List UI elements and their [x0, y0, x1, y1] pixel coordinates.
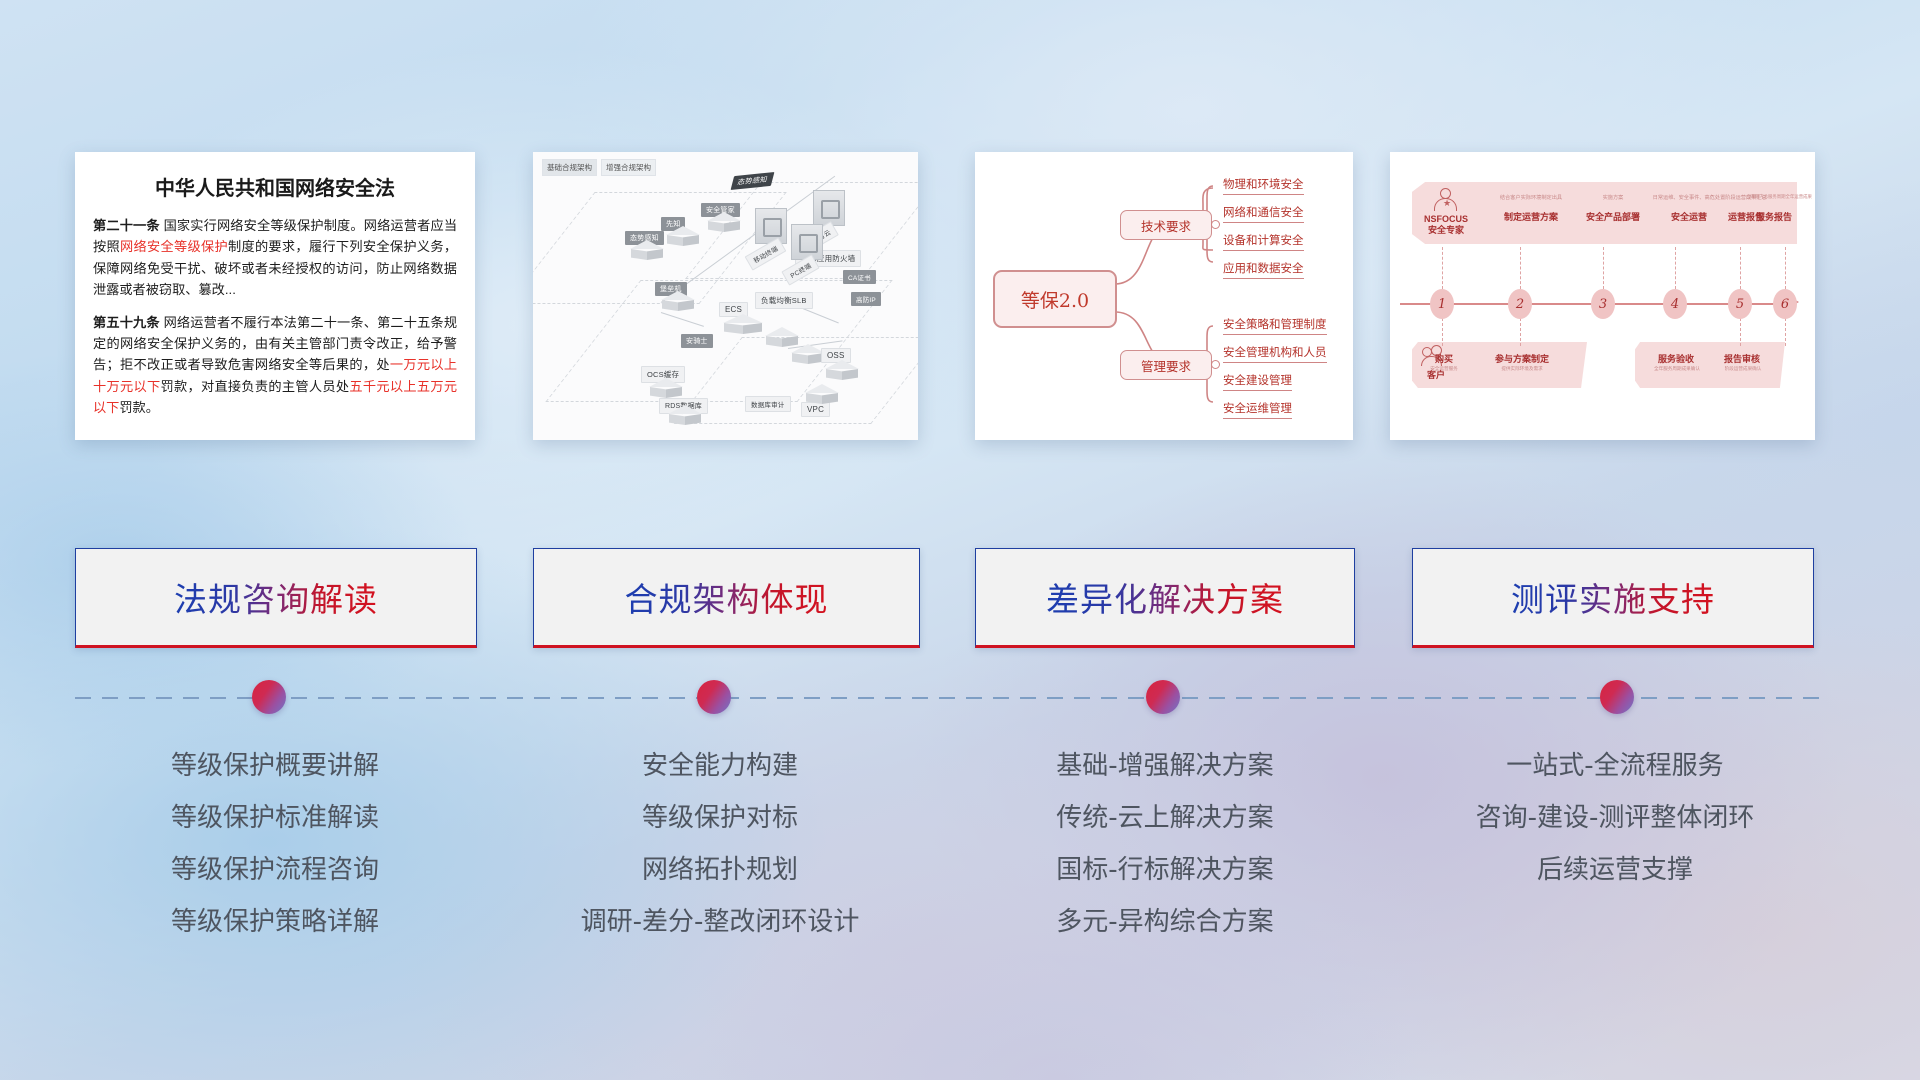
section-title-4: 测评实施支持: [1511, 573, 1715, 621]
brand-name: NSFOCUS 安全专家: [1412, 214, 1480, 237]
mindmap-dot-management: [1211, 360, 1220, 369]
section-items-3: 基础-增强解决方案 传统-云上解决方案 国标-行标解决方案 多元-异构综合方案: [965, 740, 1365, 948]
tab-enhanced-architecture[interactable]: 增强合规架构: [601, 159, 656, 176]
law-article-2-label: 第五十九条: [93, 315, 160, 330]
timeline-node-5[interactable]: 5: [1728, 289, 1752, 319]
section-title-1: 法规咨询解读: [174, 573, 378, 621]
brand-line-1: NSFOCUS: [1412, 214, 1480, 225]
timeline-dot-4[interactable]: [1600, 680, 1634, 714]
law-article-2-text-b: 罚款，对直接负责的主管人员处: [160, 379, 349, 394]
list-item: 国标-行标解决方案: [965, 844, 1365, 896]
bottom-3-subtitle: 阶段运营成果确认: [1708, 366, 1778, 372]
timeline-dot-1[interactable]: [252, 680, 286, 714]
list-item: 等级保护策略详解: [75, 896, 475, 948]
cube-ecs: [723, 314, 763, 344]
law-article-1-highlight: 网络安全等级保护: [120, 239, 228, 254]
mindmap-leaf-network-comm: 网络和通信安全: [1223, 204, 1304, 223]
bottom-2-title: 参与方案制定: [1486, 352, 1558, 365]
section-items-2: 安全能力构建 等级保护对标 网络拓扑规划 调研-差分-整改闭环设计: [520, 740, 920, 948]
timeline-node-4[interactable]: 4: [1663, 289, 1687, 319]
cube-rds-db: [668, 405, 702, 431]
ribbon-bottom-right: [1635, 342, 1785, 388]
card-law-text[interactable]: 中华人民共和国网络安全法 第二十一条 国家实行网络安全等级保护制度。网络运营者应…: [75, 152, 475, 440]
tab-basic-architecture[interactable]: 基础合规架构: [542, 159, 597, 176]
card-compliance-architecture[interactable]: 基础合规架构 增强合规架构 态势感知 安全管家 先知 态势感知 堡垒机: [533, 152, 918, 440]
cube-security-butler: [707, 212, 741, 238]
stem-step-3-up: [1603, 247, 1604, 289]
law-article-2-text-c: 罚款。: [119, 400, 159, 415]
mindmap-branch-management: 管理要求: [1120, 350, 1212, 380]
list-item: 等级保护标准解读: [75, 792, 475, 844]
node-load-balancer: 负载均衡SLB: [755, 292, 813, 309]
cube-vpc: [805, 384, 839, 410]
section-title-box-3[interactable]: 差异化解决方案: [975, 548, 1355, 648]
star-icon: ★: [1443, 198, 1451, 209]
list-item: 等级保护概要讲解: [75, 740, 475, 792]
mindmap-leaf-physical-env: 物理和环境安全: [1223, 176, 1304, 195]
thumbnail-row: 中华人民共和国网络安全法 第二十一条 国家实行网络安全等级保护制度。网络运营者应…: [0, 152, 1920, 447]
law-article-1: 第二十一条 国家实行网络安全等级保护制度。网络运营者应当按照网络安全等级保护制度…: [93, 215, 457, 301]
timeline-node-1[interactable]: 1: [1430, 289, 1454, 319]
list-item: 调研-差分-整改闭环设计: [520, 896, 920, 948]
card-nsfocus-timeline[interactable]: ★ NSFOCUS 安全专家 客户 结合客户实际环境制定出具 制定运营方案 实施…: [1390, 152, 1815, 440]
list-item: 安全能力构建: [520, 740, 920, 792]
stem-step-4-up: [1675, 247, 1676, 289]
section-items-1: 等级保护概要讲解 等级保护标准解读 等级保护流程咨询 等级保护策略详解: [75, 740, 475, 948]
stem-step-2-down: [1520, 318, 1521, 346]
mindmap-leaf-org-personnel: 安全管理机构和人员: [1223, 344, 1327, 363]
timeline-dot-3[interactable]: [1146, 680, 1180, 714]
section-title-2: 合规架构体现: [625, 573, 829, 621]
stem-step-5-up: [1740, 247, 1741, 289]
stem-step-1-down: [1442, 318, 1443, 346]
stem-step-6-up: [1785, 247, 1786, 289]
list-item: 一站式-全流程服务: [1400, 740, 1830, 792]
timeline-node-3[interactable]: 3: [1591, 289, 1615, 319]
timeline-node-6[interactable]: 6: [1773, 289, 1797, 319]
stem-step-1-up: [1442, 247, 1443, 289]
server-mobile-terminal: [755, 208, 787, 244]
mindmap-root: 等保2.0: [993, 270, 1117, 328]
cube-situational-awareness: [630, 240, 664, 266]
node-db-audit: 数据库审计: [745, 396, 791, 412]
list-item: 等级保护流程咨询: [75, 844, 475, 896]
mindmap-leaf-policy-system: 安全策略和管理制度: [1223, 316, 1327, 335]
step-2-subtitle: 结合客户实际环境制定出具: [1486, 194, 1576, 201]
mindmap-leaf-operation-mgmt: 安全运维管理: [1223, 400, 1292, 419]
bottom-4-title: 服务验收: [1648, 352, 1704, 365]
list-item: 多元-异构综合方案: [965, 896, 1365, 948]
bottom-3-title: 报告审核: [1714, 352, 1770, 365]
card-mindmap[interactable]: 等保2.0 技术要求 物理和环境安全 网络和通信安全 设备和计算安全 应用和数据…: [975, 152, 1353, 440]
cube-bastion-host: [661, 291, 695, 317]
bottom-2-subtitle: 提供实际环境及需求: [1484, 366, 1560, 372]
timeline-dot-2[interactable]: [697, 680, 731, 714]
server-private-cloud: [813, 190, 845, 226]
step-3-subtitle: 实施方案: [1580, 194, 1646, 201]
brand-line-2: 安全专家: [1412, 225, 1480, 236]
node-security-knight: 安骑士: [681, 334, 713, 348]
cube-foresight: [666, 226, 700, 252]
list-item: 网络拓扑规划: [520, 844, 920, 896]
section-title-box-2[interactable]: 合规架构体现: [533, 548, 920, 648]
mindmap-leaf-device-compute: 设备和计算安全: [1223, 232, 1304, 251]
bottom-1-subtitle: 安全运营服务: [1416, 366, 1472, 372]
step-6-subtitle: 合同期内总服务周期全年运营成果: [1746, 194, 1802, 200]
step-6-title: 服务报告: [1746, 212, 1802, 223]
list-item: 等级保护对标: [520, 792, 920, 844]
law-article-1-label: 第二十一条: [93, 218, 160, 233]
list-item: 传统-云上解决方案: [965, 792, 1365, 844]
stem-step-6-down: [1785, 318, 1786, 346]
architecture-tabs: 基础合规架构 增强合规架构: [542, 159, 656, 176]
step-3-title: 安全产品部署: [1576, 212, 1650, 223]
node-anti-ddos-ip: 高防IP: [851, 292, 881, 306]
bottom-4-subtitle: 全年服务周期成果确认: [1642, 366, 1712, 372]
cube-oss: [825, 360, 859, 386]
list-item: 基础-增强解决方案: [965, 740, 1365, 792]
list-item: 咨询-建设-测评整体闭环: [1400, 792, 1830, 844]
stem-step-5-down: [1740, 318, 1741, 346]
cube-ecs-2: [791, 344, 825, 370]
section-title-row: 法规咨询解读 合规架构体现 差异化解决方案 测评实施支持: [0, 548, 1920, 644]
list-item: 后续运营支撑: [1400, 844, 1830, 896]
section-items-4: 一站式-全流程服务 咨询-建设-测评整体闭环 后续运营支撑: [1400, 740, 1830, 896]
section-title-box-1[interactable]: 法规咨询解读: [75, 548, 477, 648]
mindmap-branch-technical: 技术要求: [1120, 210, 1212, 240]
step-2-title: 制定运营方案: [1486, 212, 1576, 223]
bottom-1-title: 购买: [1420, 352, 1468, 365]
mindmap-leaf-construction-mgmt: 安全建设管理: [1223, 372, 1292, 391]
stem-step-2-up: [1520, 247, 1521, 289]
node-ca-certificate: CA证书: [843, 270, 876, 284]
server-pc-terminal: [791, 224, 823, 260]
mindmap-leaf-app-data: 应用和数据安全: [1223, 260, 1304, 279]
law-title: 中华人民共和国网络安全法: [93, 172, 457, 201]
mindmap-dot-technical: [1211, 220, 1220, 229]
law-article-2: 第五十九条 网络运营者不履行本法第二十一条、第二十五条规定的网络安全保护义务的，…: [93, 312, 457, 419]
timeline-node-2[interactable]: 2: [1508, 289, 1532, 319]
section-title-box-4[interactable]: 测评实施支持: [1412, 548, 1814, 648]
timeline-dashed-line: [75, 697, 1827, 699]
section-title-3: 差异化解决方案: [1046, 573, 1284, 621]
step-4-title: 安全运营: [1652, 212, 1726, 223]
